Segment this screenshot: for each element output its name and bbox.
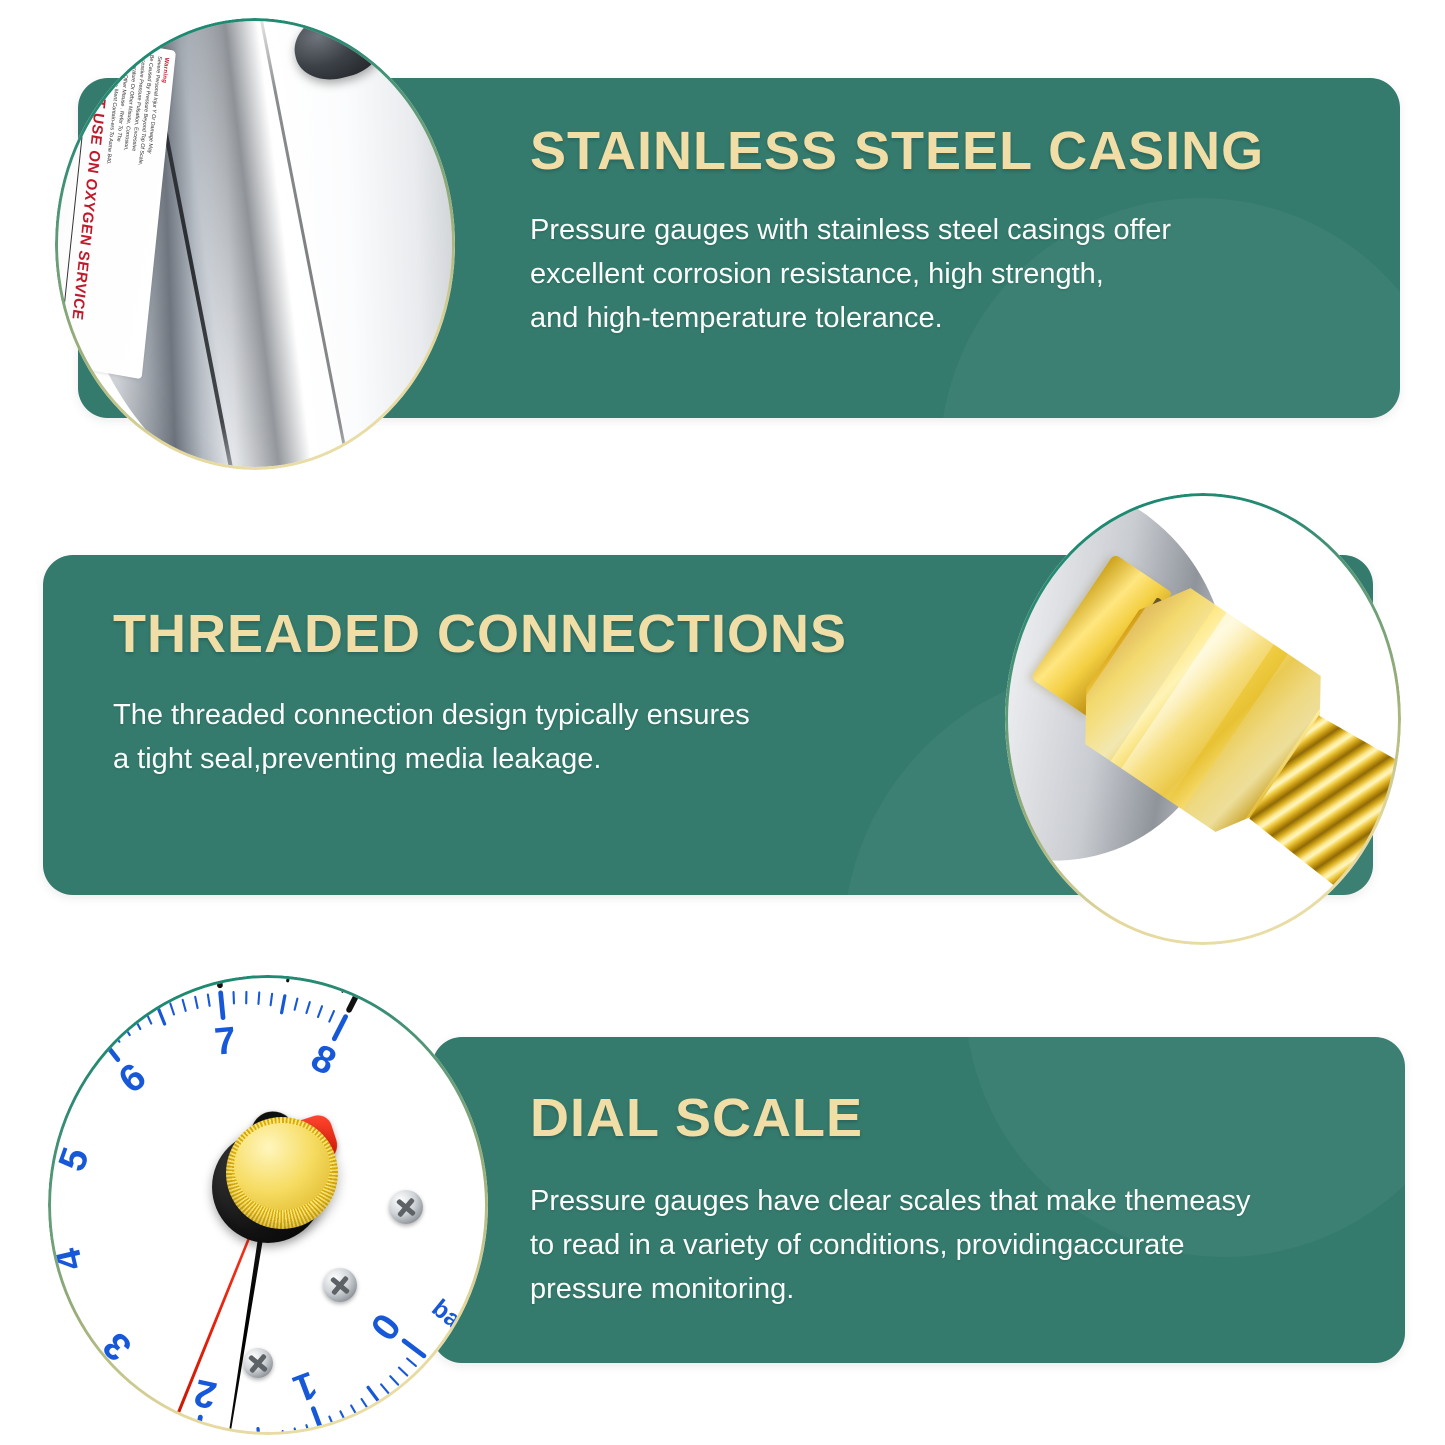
section-3-title: DIAL SCALE: [530, 1091, 1405, 1145]
dial-unit-label: bar: [426, 1294, 473, 1339]
stainless-steel-casing-photo: Warning Severe Personal Injur Y Or Damag…: [58, 21, 452, 467]
gauge-case-illustration: Warning Severe Personal Injur Y Or Damag…: [58, 21, 452, 467]
infographic-canvas: STAINLESS STEEL CASING Pressure gauges w…: [0, 0, 1445, 1445]
section-1-body-line-2: excellent corrosion resistance, high str…: [530, 252, 1400, 296]
dial-screw-3: [243, 1348, 273, 1378]
pressure-gauge-dial-photo: 012345678 bar: [51, 978, 485, 1432]
brass-adjuster-knob: [226, 1117, 338, 1229]
brass-fitting-illustration: [1008, 496, 1398, 942]
svg-text:1: 1: [287, 1362, 322, 1410]
section-3-body-line-2: to read in a variety of conditions, prov…: [530, 1223, 1405, 1267]
section-1-body-line-3: and high-temperature tolerance.: [530, 296, 1400, 340]
threaded-connection-image-bubble: [1005, 493, 1401, 945]
section-1-body-line-1: Pressure gauges with stainless steel cas…: [530, 208, 1400, 252]
thread-tip-highlight: [1369, 791, 1398, 929]
dial-screw-1: [389, 1190, 423, 1224]
svg-text:5: 5: [51, 1142, 97, 1176]
svg-text:0: 0: [361, 1305, 408, 1348]
dial-scale-image-bubble: 012345678 bar: [48, 975, 488, 1435]
svg-text:7: 7: [212, 1018, 237, 1063]
brass-fitting-photo: [1008, 496, 1398, 942]
section-3-body-line-1: Pressure gauges have clear scales that m…: [530, 1179, 1405, 1223]
section-1-body: Pressure gauges with stainless steel cas…: [530, 208, 1400, 340]
stainless-steel-casing-image-bubble: Warning Severe Personal Injur Y Or Damag…: [55, 18, 455, 470]
svg-text:4: 4: [51, 1243, 91, 1274]
section-3-text-block: DIAL SCALE Pressure gauges have clear sc…: [432, 1037, 1405, 1311]
section-3-body-line-3: pressure monitoring.: [530, 1267, 1405, 1311]
section-panel-dial-scale: DIAL SCALE Pressure gauges have clear sc…: [432, 1037, 1405, 1363]
section-1-title: STAINLESS STEEL CASING: [530, 124, 1400, 178]
section-3-body: Pressure gauges have clear scales that m…: [530, 1179, 1405, 1311]
dial-screw-2: [323, 1268, 357, 1302]
svg-text:8: 8: [304, 1035, 342, 1083]
gauge-dial-illustration: 012345678 bar: [51, 978, 485, 1432]
